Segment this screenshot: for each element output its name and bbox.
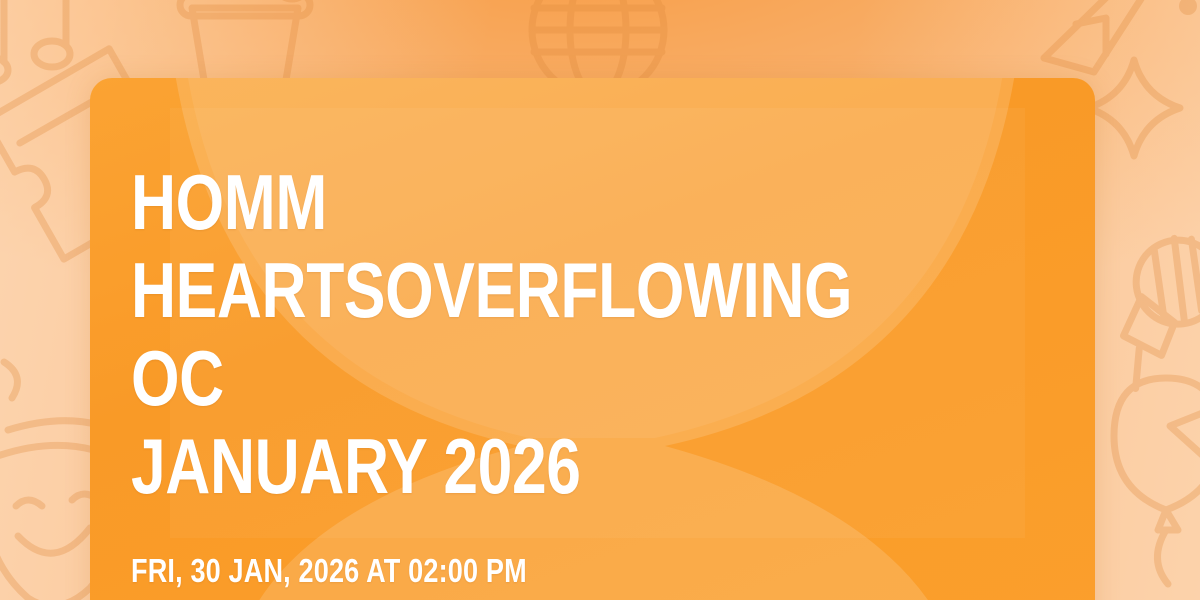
confetti-icon <box>0 260 17 398</box>
note-tail-icon <box>1076 18 1106 54</box>
microphone-icon <box>1077 223 1200 394</box>
event-title: HOMM HEARTSOVERFLOWING OC JANUARY 2026 <box>131 158 902 510</box>
star-dot-icon <box>1179 0 1197 15</box>
card-content: HOMM HEARTSOVERFLOWING OC JANUARY 2026 F… <box>131 78 1095 600</box>
event-date: FRI, 30 JAN, 2026 AT 02:00 PM <box>131 510 921 590</box>
event-banner: HOMM HEARTSOVERFLOWING OC JANUARY 2026 F… <box>0 0 1200 600</box>
sparkle-icon <box>1088 60 1180 156</box>
balloon-icon <box>1114 378 1200 584</box>
event-card: HOMM HEARTSOVERFLOWING OC JANUARY 2026 F… <box>90 78 1095 600</box>
party-popper-icon <box>1044 0 1194 72</box>
music-note-icon <box>0 0 70 83</box>
